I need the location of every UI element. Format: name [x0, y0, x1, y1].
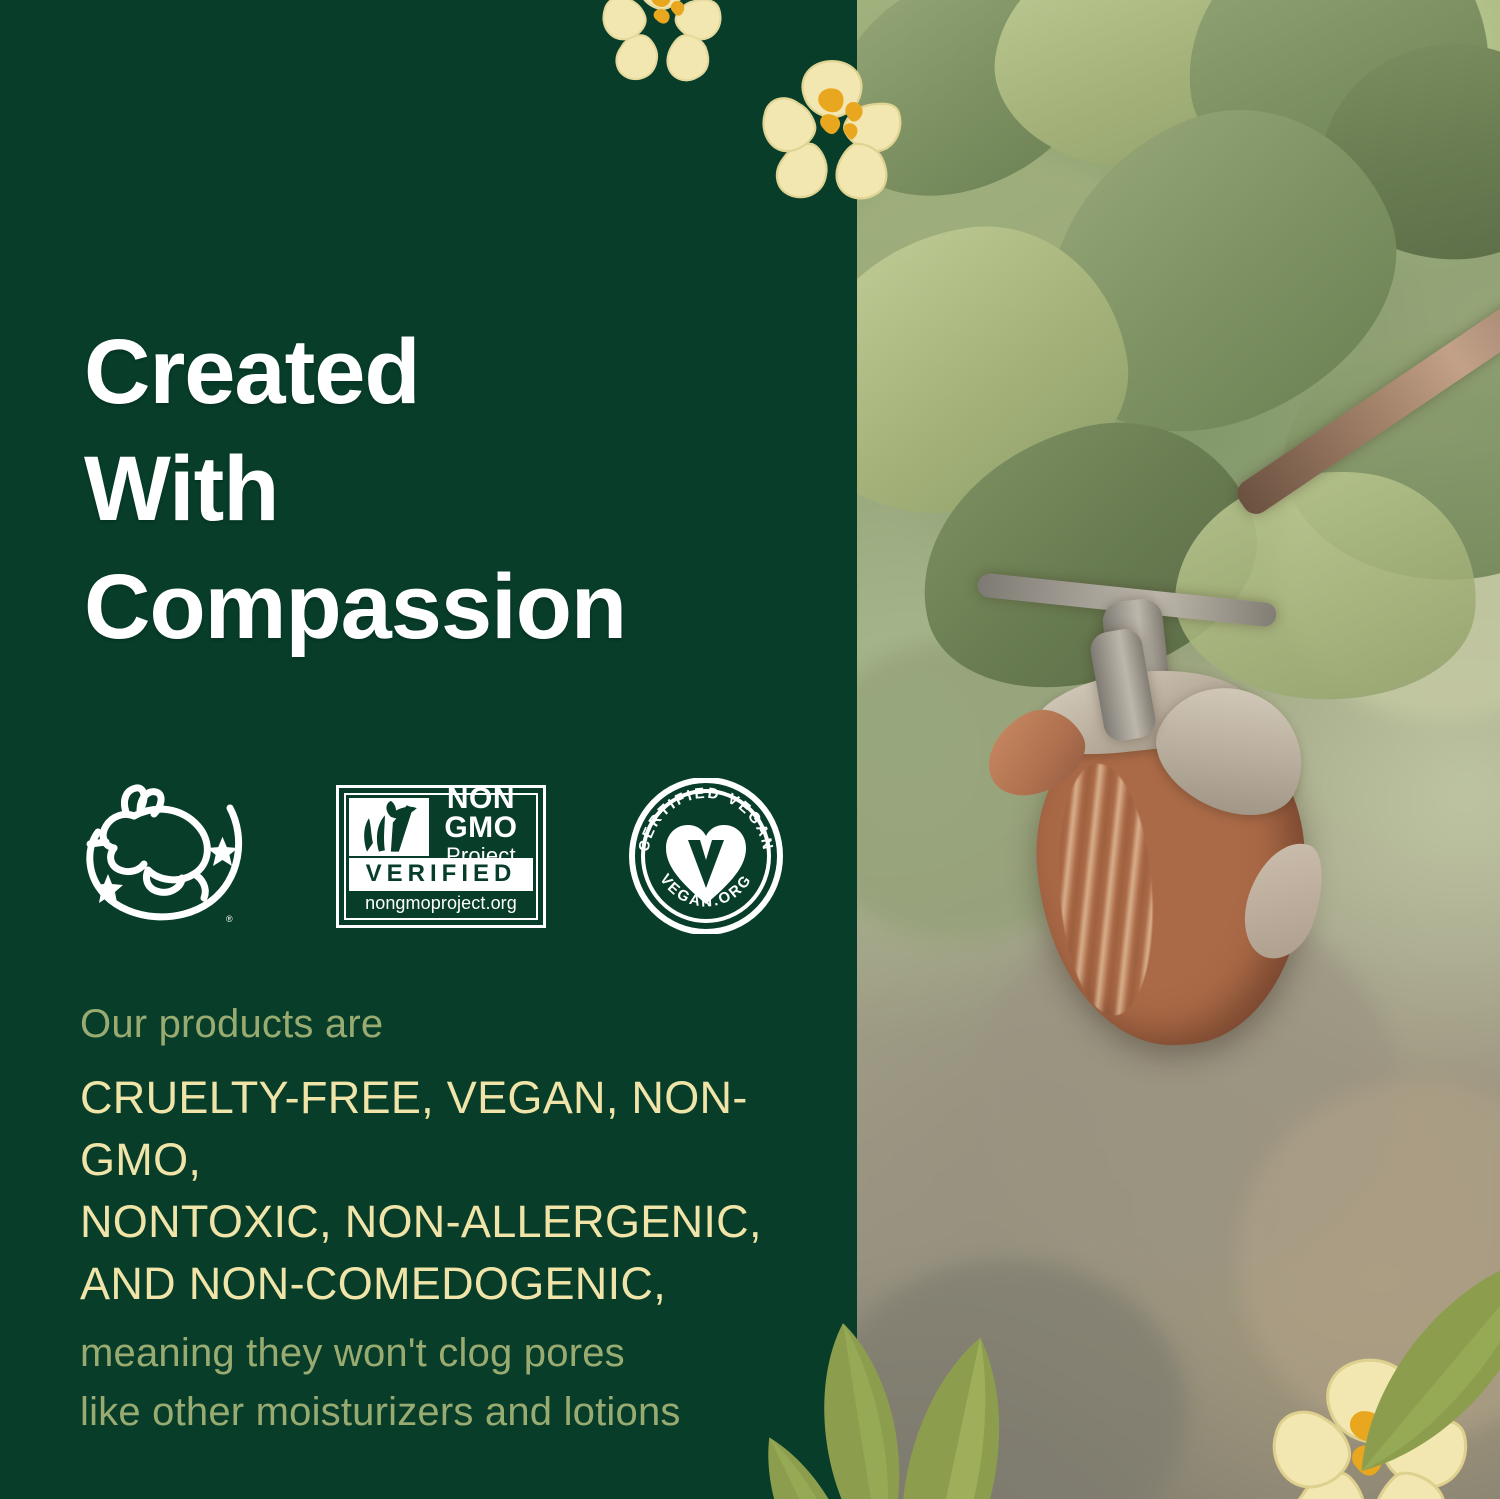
non-gmo-url: nongmoproject.org [346, 893, 536, 918]
non-gmo-wordmark: NON GMO Project [429, 795, 536, 856]
claims-lead: Our products are [80, 996, 840, 1053]
non-gmo-line-2: GMO [444, 813, 517, 842]
non-gmo-line-1: NON [447, 784, 515, 813]
non-gmo-verified-text: VERIFIED [349, 858, 533, 891]
photo-foreground [857, 0, 1500, 1499]
non-gmo-verified-badge: NON GMO Project VERIFIED nongmoproject.o… [336, 785, 546, 928]
created-with-compassion-poster: Created With Compassion [0, 0, 1500, 1499]
green-content-panel: Created With Compassion [0, 0, 857, 1499]
certification-badges: ® [78, 778, 784, 934]
certified-vegan-badge: CERTIFIED VEGAN VEGAN.ORG [628, 778, 784, 934]
registered-mark: ® [226, 914, 233, 924]
leaping-bunny-badge: ® [78, 782, 254, 930]
claims-tail-line-1: meaning they won't clog pores [80, 1325, 840, 1382]
claims-tail-line-2: like other moisturizers and lotions [80, 1384, 840, 1441]
non-gmo-butterfly-icon [349, 798, 429, 856]
page-title: Created With Compassion [84, 314, 626, 667]
vegan-heart-v-icon: CERTIFIED VEGAN VEGAN.ORG [628, 778, 784, 934]
leaping-bunny-icon: ® [78, 782, 254, 930]
product-claims-copy: Our products are CRUELTY-FREE, VEGAN, NO… [80, 996, 840, 1441]
jojoba-nut-ridges [1052, 761, 1160, 1018]
claims-list: CRUELTY-FREE, VEGAN, NON-GMO, NONTOXIC, … [80, 1067, 840, 1315]
